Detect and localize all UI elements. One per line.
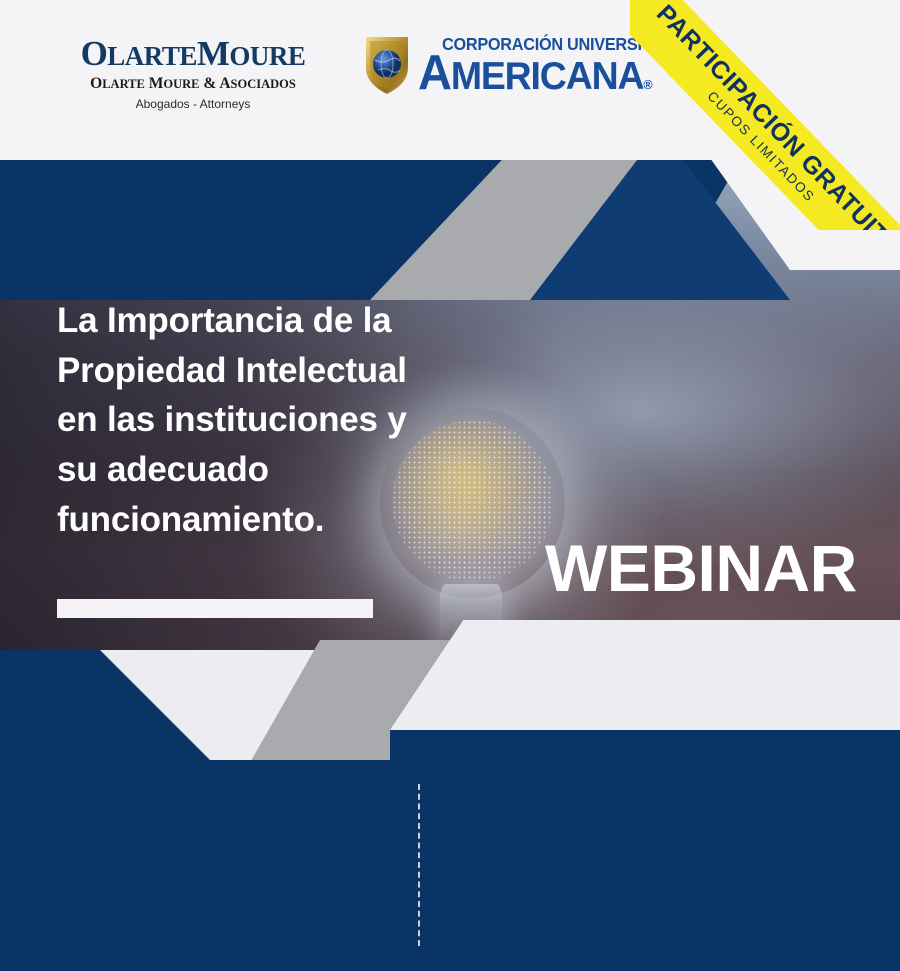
americana-rest: MERICANA xyxy=(451,55,644,98)
olarte-moure-tagline: Abogados - Attorneys xyxy=(58,98,328,110)
olarte-moure-text-larte: LARTE xyxy=(107,41,197,71)
vertical-dashed-divider xyxy=(418,784,420,946)
olarte-moure-logo[interactable]: OLARTEMOURE OLARTE MOURE & ASOCIADOS Abo… xyxy=(58,36,328,110)
sub-amp: & xyxy=(203,75,216,92)
footer-panel xyxy=(0,760,900,971)
sub-oure: OURE xyxy=(163,77,199,91)
webinar-word: WEBINAR xyxy=(545,535,857,601)
sub-sociados: SOCIADOS xyxy=(231,77,296,91)
webinar-title: La Importancia de la Propiedad Intelectu… xyxy=(57,296,407,544)
registered-mark: ® xyxy=(643,77,651,92)
globe-dot-matrix xyxy=(392,420,554,582)
americana-logo[interactable]: CORPORACIÓN UNIVERSITARIA AMERICANA® xyxy=(362,32,617,102)
webinar-poster: La Importancia de la Propiedad Intelectu… xyxy=(0,0,900,971)
bulb-neck xyxy=(440,584,502,646)
sub-o: O xyxy=(90,75,102,92)
sub-larte: LARTE xyxy=(102,77,145,91)
olarte-moure-initial-o: O xyxy=(81,34,108,73)
sub-m: M xyxy=(149,75,164,92)
americana-shield-icon xyxy=(362,34,412,96)
olarte-moure-subtitle: OLARTE MOURE & ASOCIADOS xyxy=(58,76,328,92)
sub-a: A xyxy=(219,75,230,92)
title-underline-bar xyxy=(57,599,373,618)
americana-initial-a: A xyxy=(418,46,451,100)
olarte-moure-wordmark: OLARTEMOURE xyxy=(58,36,328,71)
olarte-moure-initial-m: M xyxy=(197,34,230,73)
bulb-base xyxy=(448,644,494,666)
olarte-moure-text-oure: OURE xyxy=(229,41,305,71)
